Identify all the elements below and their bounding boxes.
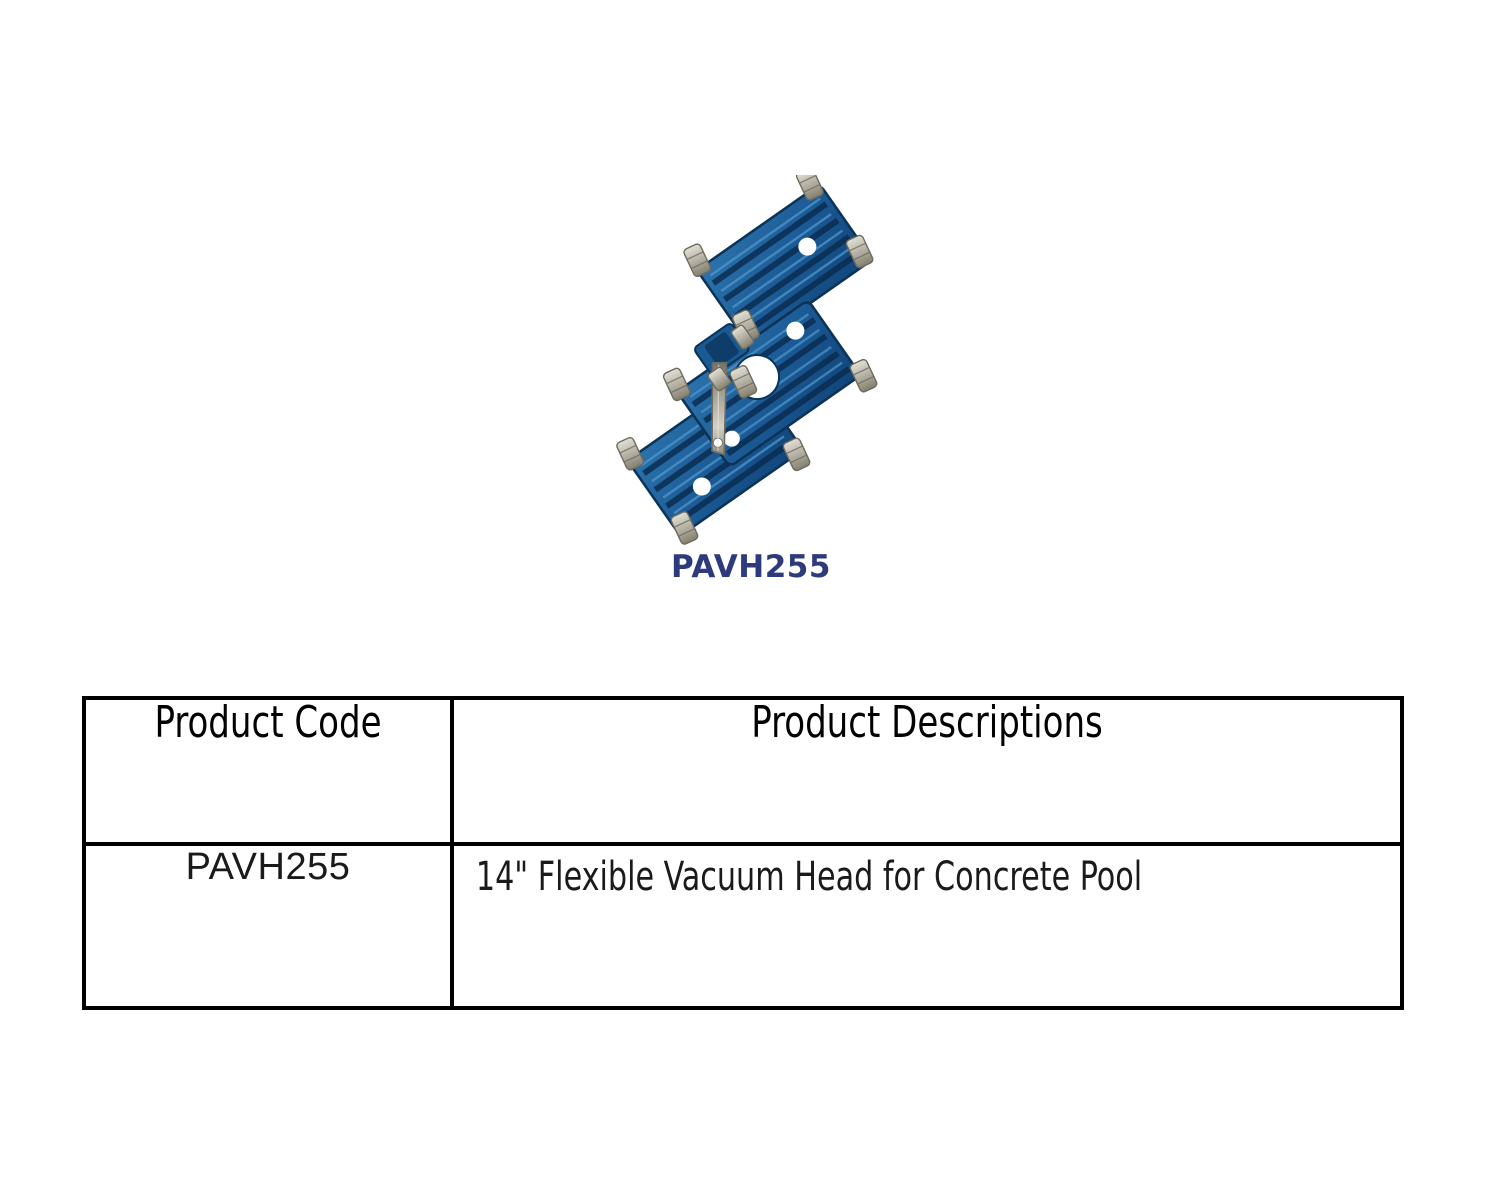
header-label-product-code: Product Code — [111, 700, 424, 842]
product-code-value: PAVH255 — [86, 846, 450, 1006]
product-image-caption-text: PAVH255 — [671, 549, 831, 585]
product-image-caption: PAVH255 — [0, 549, 1500, 585]
product-description-value: 14" Flexible Vacuum Head for Concrete Po… — [454, 846, 1374, 1006]
product-image — [545, 175, 955, 545]
header-label-product-descriptions: Product Descriptions — [520, 700, 1334, 842]
vacuum-head-illustration — [545, 175, 955, 545]
table-header-cell-product-code: Product Code — [84, 698, 452, 844]
table-header-cell-product-descriptions: Product Descriptions — [452, 698, 1402, 844]
product-table: Product Code Product Descriptions PAVH25… — [82, 696, 1404, 1010]
product-figure: PAVH255 — [0, 0, 1500, 640]
table-cell-product-description: 14" Flexible Vacuum Head for Concrete Po… — [452, 844, 1402, 1008]
table-cell-product-code: PAVH255 — [84, 844, 452, 1008]
table-row: PAVH255 14" Flexible Vacuum Head for Con… — [84, 844, 1402, 1008]
table-header-row: Product Code Product Descriptions — [84, 698, 1402, 844]
